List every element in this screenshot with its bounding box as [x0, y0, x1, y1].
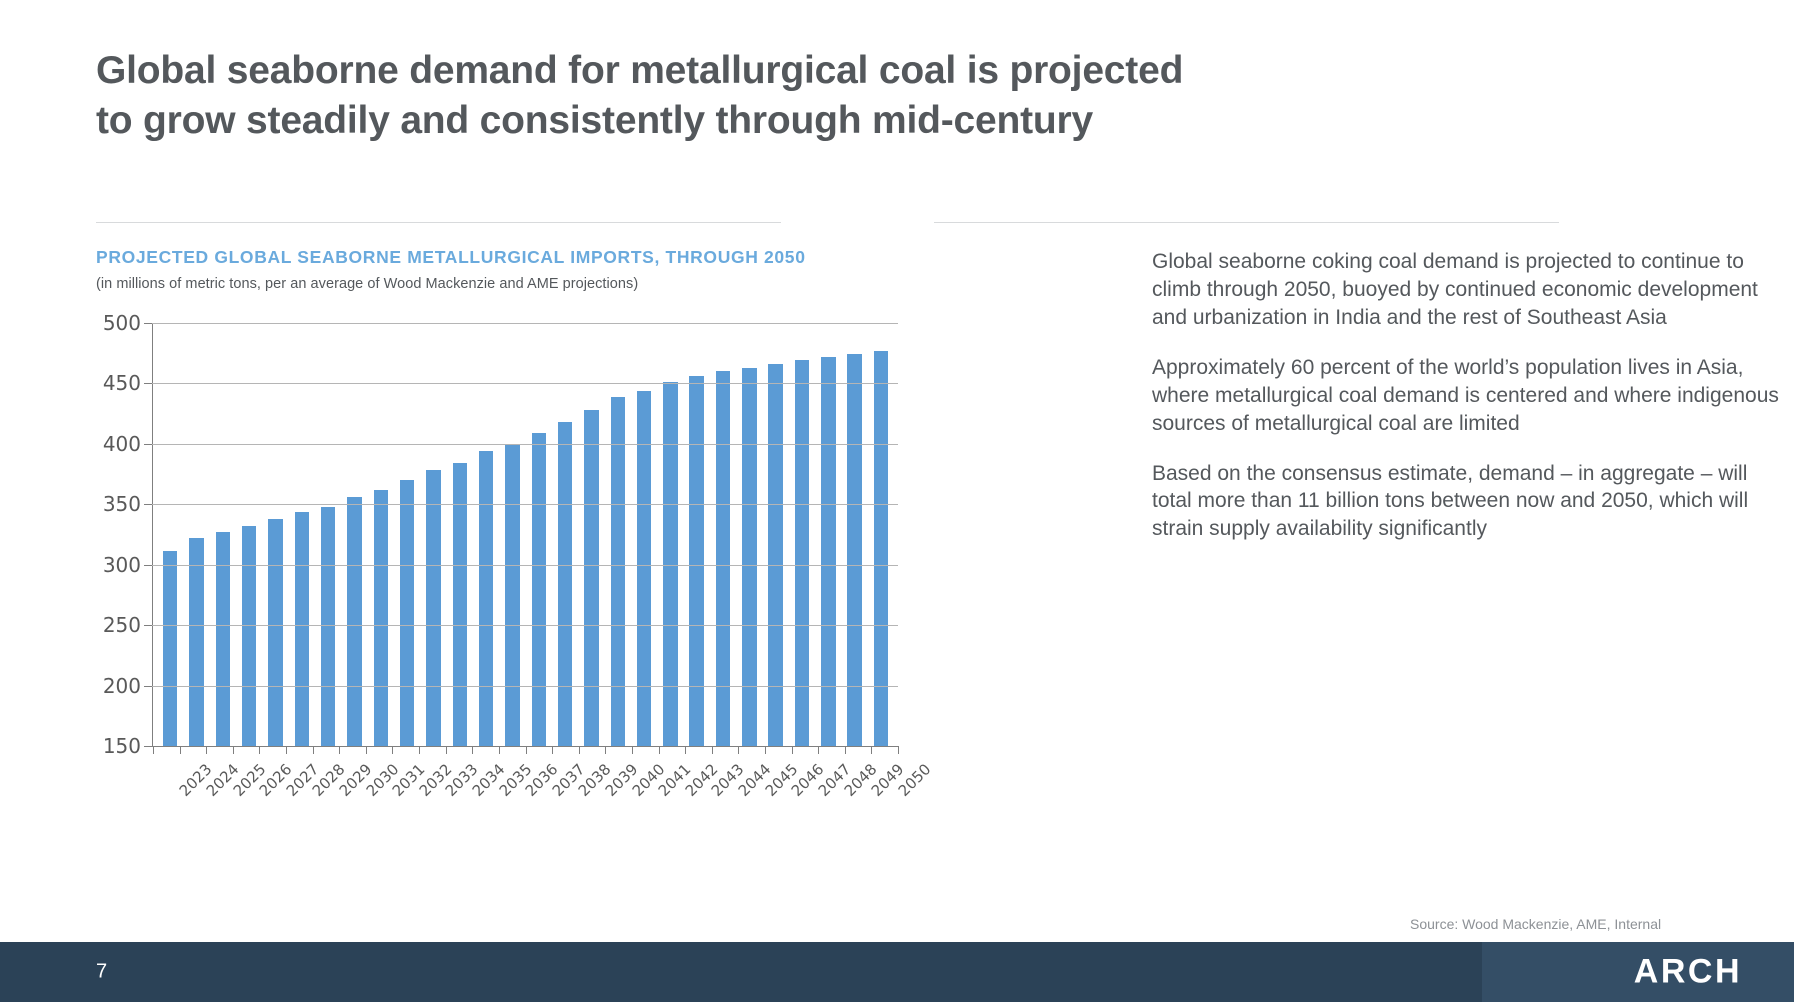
x-tick-mark — [153, 746, 154, 754]
slide: Global seaborne demand for metallurgical… — [0, 0, 1794, 1002]
gridline — [152, 504, 898, 505]
bar-slot — [236, 323, 262, 746]
x-tick-mark — [659, 746, 660, 754]
bar[interactable] — [558, 422, 572, 746]
bar-slot — [394, 323, 420, 746]
bar-slot — [710, 323, 736, 746]
bar-slot — [368, 323, 394, 746]
bar-slot — [183, 323, 209, 746]
x-tick-mark — [366, 746, 367, 754]
x-tick-mark — [898, 746, 899, 754]
bar[interactable] — [400, 480, 414, 746]
bar-slot — [631, 323, 657, 746]
x-tick-mark — [233, 746, 234, 754]
bar[interactable] — [847, 354, 861, 746]
x-tick-mark — [871, 746, 872, 754]
bar-slot — [657, 323, 683, 746]
x-tick-mark — [339, 746, 340, 754]
bar-slot — [868, 323, 894, 746]
y-axis-tick-label: 300 — [103, 553, 141, 577]
bar-slot — [420, 323, 446, 746]
chart-grid: 500450400350300250200150 — [152, 323, 898, 746]
bar-series — [153, 323, 898, 746]
arch-logo: ARCH — [1634, 953, 1742, 992]
y-tick-mark — [144, 504, 152, 505]
x-axis-labels: 2023202420252026202720282029203020312032… — [153, 756, 898, 816]
gridline — [152, 323, 898, 324]
bar-slot — [447, 323, 473, 746]
y-axis-tick-label: 350 — [103, 492, 141, 516]
bar-slot — [315, 323, 341, 746]
bar-slot — [815, 323, 841, 746]
bar[interactable] — [874, 351, 888, 746]
bar-slot — [842, 323, 868, 746]
x-tick-mark — [206, 746, 207, 754]
bar[interactable] — [795, 360, 809, 746]
divider-right — [934, 222, 1559, 223]
y-axis-tick-label: 400 — [103, 432, 141, 456]
x-axis-ticks — [153, 746, 898, 755]
chart-title: PROJECTED GLOBAL SEABORNE METALLURGICAL … — [96, 248, 951, 267]
bar-slot — [789, 323, 815, 746]
bar-slot — [210, 323, 236, 746]
insight-paragraph: Based on the consensus estimate, demand … — [1152, 460, 1784, 544]
y-axis-tick-label: 200 — [103, 674, 141, 698]
x-tick-mark — [392, 746, 393, 754]
bar[interactable] — [295, 512, 309, 746]
bar[interactable] — [163, 551, 177, 746]
y-axis-tick-label: 500 — [103, 311, 141, 335]
x-tick-mark — [579, 746, 580, 754]
bar[interactable] — [479, 451, 493, 746]
y-tick-mark — [144, 686, 152, 687]
footer-bar: 7 ARCH — [0, 942, 1794, 1002]
bar[interactable] — [611, 397, 625, 746]
y-tick-mark — [144, 383, 152, 384]
bar[interactable] — [453, 463, 467, 746]
y-tick-mark — [144, 323, 152, 324]
bar-slot — [499, 323, 525, 746]
bar-slot — [473, 323, 499, 746]
y-tick-mark — [144, 444, 152, 445]
gridline — [152, 383, 898, 384]
x-tick-mark — [552, 746, 553, 754]
y-axis-tick-label: 250 — [103, 613, 141, 637]
x-tick-mark — [632, 746, 633, 754]
y-tick-mark — [144, 746, 152, 747]
bar-slot — [262, 323, 288, 746]
x-tick-mark — [605, 746, 606, 754]
bar[interactable] — [584, 410, 598, 746]
bar[interactable] — [768, 364, 782, 746]
bar[interactable] — [189, 538, 203, 746]
bar-slot — [552, 323, 578, 746]
y-axis-tick-label: 450 — [103, 371, 141, 395]
source-note: Source: Wood Mackenzie, AME, Internal — [1410, 916, 1661, 932]
x-tick-mark — [845, 746, 846, 754]
title-line-1: Global seaborne demand for metallurgical… — [96, 49, 1183, 92]
x-tick-mark — [685, 746, 686, 754]
title-line-2: to grow steadily and consistently throug… — [96, 96, 1656, 146]
bar-slot — [526, 323, 552, 746]
bar[interactable] — [532, 433, 546, 746]
chart-container: PROJECTED GLOBAL SEABORNE METALLURGICAL … — [96, 248, 951, 868]
bar-slot — [605, 323, 631, 746]
y-tick-mark — [144, 625, 152, 626]
bar[interactable] — [268, 519, 282, 746]
bar-slot — [578, 323, 604, 746]
bar[interactable] — [821, 357, 835, 746]
bar[interactable] — [321, 507, 335, 746]
divider-left — [96, 222, 781, 223]
bar[interactable] — [242, 526, 256, 746]
gridline — [152, 565, 898, 566]
page-number: 7 — [96, 961, 107, 984]
bar-slot — [684, 323, 710, 746]
bar[interactable] — [426, 470, 440, 746]
x-tick-mark — [712, 746, 713, 754]
y-tick-mark — [144, 565, 152, 566]
bar-slot — [341, 323, 367, 746]
bar-slot — [736, 323, 762, 746]
bar[interactable] — [689, 376, 703, 746]
x-tick-mark — [286, 746, 287, 754]
bar[interactable] — [374, 490, 388, 746]
bar[interactable] — [347, 497, 361, 746]
bar-slot — [289, 323, 315, 746]
x-tick-mark — [526, 746, 527, 754]
bar-slot — [157, 323, 183, 746]
x-tick-mark — [499, 746, 500, 754]
y-axis-tick-label: 150 — [103, 734, 141, 758]
bar[interactable] — [716, 371, 730, 746]
insight-paragraph: Approximately 60 percent of the world’s … — [1152, 354, 1784, 438]
x-tick-mark — [313, 746, 314, 754]
x-tick-mark — [419, 746, 420, 754]
x-tick-mark — [738, 746, 739, 754]
x-tick-mark — [765, 746, 766, 754]
bar[interactable] — [742, 368, 756, 746]
gridline — [152, 444, 898, 445]
x-tick-mark — [180, 746, 181, 754]
x-tick-mark — [792, 746, 793, 754]
insight-paragraph: Global seaborne coking coal demand is pr… — [1152, 248, 1784, 332]
x-tick-mark — [818, 746, 819, 754]
plot-area: 500450400350300250200150 202320242025202… — [52, 288, 952, 818]
page-title: Global seaborne demand for metallurgical… — [96, 46, 1656, 146]
bar-slot — [763, 323, 789, 746]
bar[interactable] — [505, 444, 519, 746]
insights-panel: Global seaborne coking coal demand is pr… — [1152, 248, 1784, 543]
gridline — [152, 625, 898, 626]
x-tick-mark — [472, 746, 473, 754]
x-tick-mark — [446, 746, 447, 754]
gridline — [152, 686, 898, 687]
x-tick-mark — [259, 746, 260, 754]
